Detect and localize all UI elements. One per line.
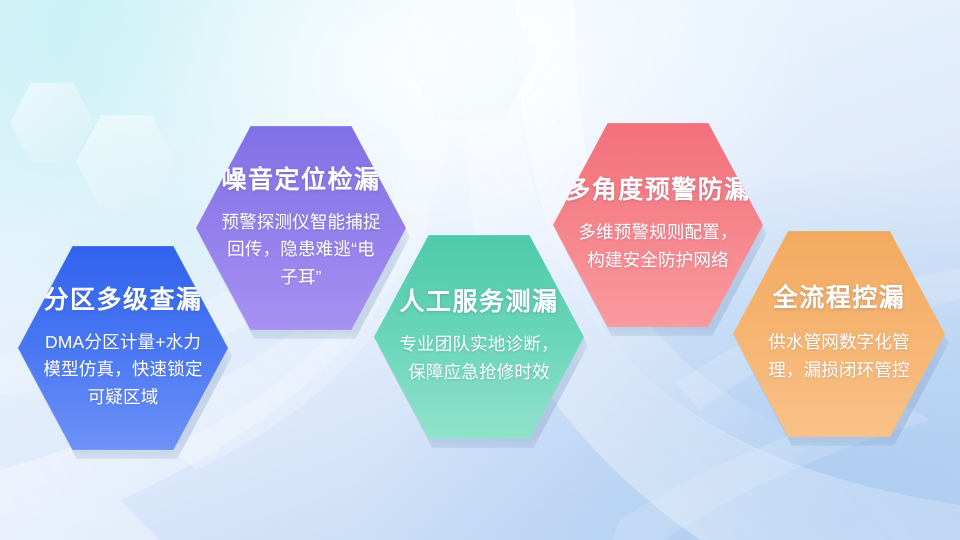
hex-card-4-title: 多角度预警防漏 — [565, 175, 751, 205]
hex-card-1-title: 分区多级查漏 — [43, 285, 202, 315]
hex-card-4-description: 多维预警规则配置，构建安全防护网络 — [578, 219, 738, 274]
ghost-hex-top-center — [402, 0, 538, 124]
hex-card-3-description: 专业团队实地诊断，保障应急抢修时效 — [395, 331, 563, 386]
hex-card-3-title: 人工服务测漏 — [399, 287, 558, 317]
hex-card-1-description: DMA分区计量+水力模型仿真，快速锁定可疑区域 — [39, 329, 207, 412]
infographic-canvas: 分区多级查漏 DMA分区计量+水力模型仿真，快速锁定可疑区域 噪音定位检漏 预警… — [0, 0, 960, 540]
hex-card-5-title: 全流程控漏 — [773, 283, 906, 313]
hex-card-5-description: 供水管网数字化管理，漏损闭环管控 — [754, 329, 924, 384]
hex-card-2-title: 噪音定位检漏 — [221, 165, 380, 195]
hex-card-2-description: 预警探测仪智能捕捉回传，隐患难逃“电子耳” — [221, 209, 381, 292]
ghost-hex-top-left-a — [10, 80, 94, 164]
